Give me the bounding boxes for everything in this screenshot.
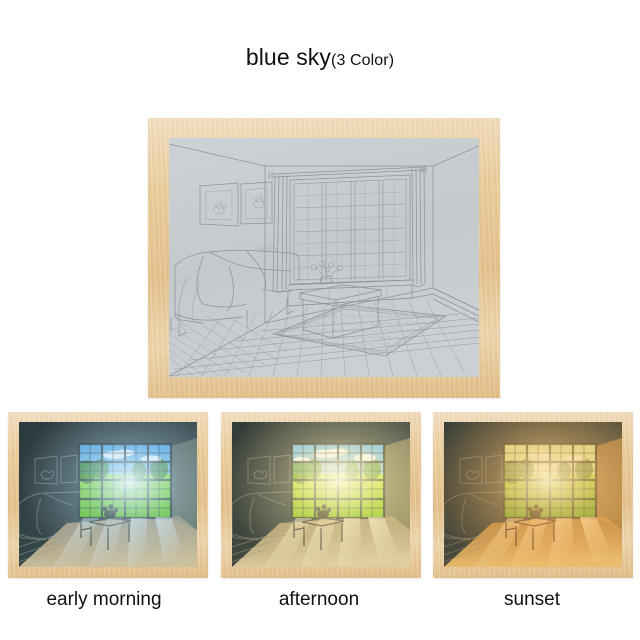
lit-scene-sunset [444, 422, 622, 567]
page-title-main: blue sky [246, 44, 331, 70]
etched-line-art-scene [169, 138, 479, 377]
thumbnail-panel-afternoon [232, 422, 410, 567]
thumbnail-frame-afternoon[interactable] [221, 412, 421, 578]
thumbnail-panel-sunset [444, 422, 622, 567]
line-art-svg [169, 138, 479, 377]
page-title: blue sky(3 Color) [0, 46, 640, 69]
lit-scene-afternoon [232, 422, 410, 567]
main-product-frame[interactable] [148, 118, 500, 398]
thumbnail-caption-early-morning: early morning [4, 590, 204, 609]
thumbnail-caption-sunset: sunset [432, 590, 632, 609]
page-title-variant: (3 Color) [331, 52, 394, 69]
lit-scene-early-morning [19, 422, 197, 567]
lit-scene-svg-early-morning [19, 422, 197, 567]
thumbnail-frame-sunset[interactable] [433, 412, 633, 578]
thumbnail-frame-early-morning[interactable] [8, 412, 208, 578]
main-panel-inner [169, 138, 479, 377]
lit-scene-svg-sunset [444, 422, 622, 567]
lit-scene-svg-afternoon [232, 422, 410, 567]
thumbnail-caption-afternoon: afternoon [219, 590, 419, 609]
thumbnail-panel-early-morning [19, 422, 197, 567]
